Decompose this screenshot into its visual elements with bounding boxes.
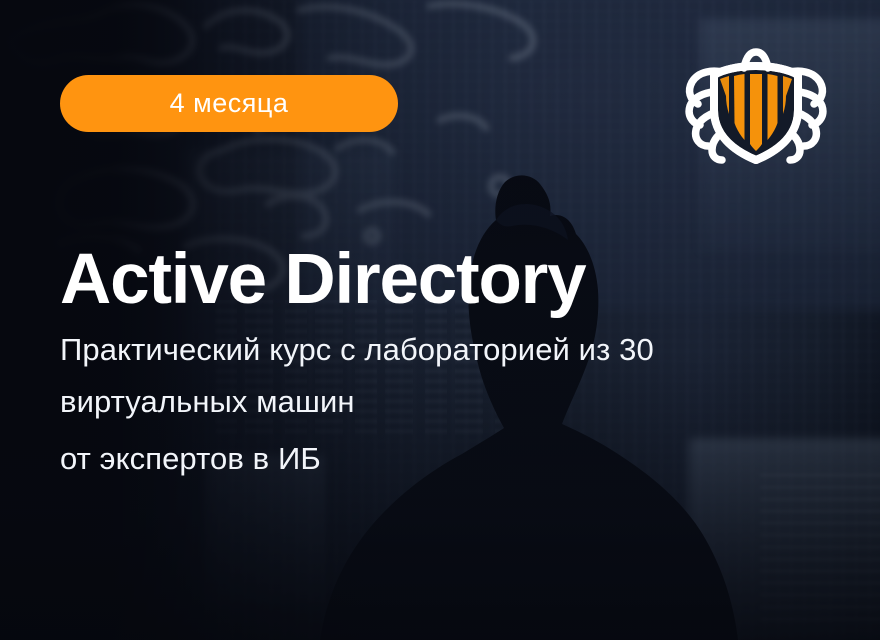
duration-badge-label: 4 месяца bbox=[170, 90, 289, 117]
course-description: Практический курс с лабораторией из 30 в… bbox=[60, 324, 820, 485]
beetle-shield-logo-icon[interactable] bbox=[682, 48, 830, 166]
duration-badge[interactable]: 4 месяца bbox=[60, 75, 398, 132]
description-line-3: от экспертов в ИБ bbox=[60, 433, 820, 485]
description-line-2: виртуальных машин bbox=[60, 376, 820, 428]
page-title: Active Directory bbox=[60, 244, 585, 315]
description-line-1: Практический курс с лабораторией из 30 bbox=[60, 324, 820, 376]
course-promo-banner: 4 месяца bbox=[0, 0, 880, 640]
